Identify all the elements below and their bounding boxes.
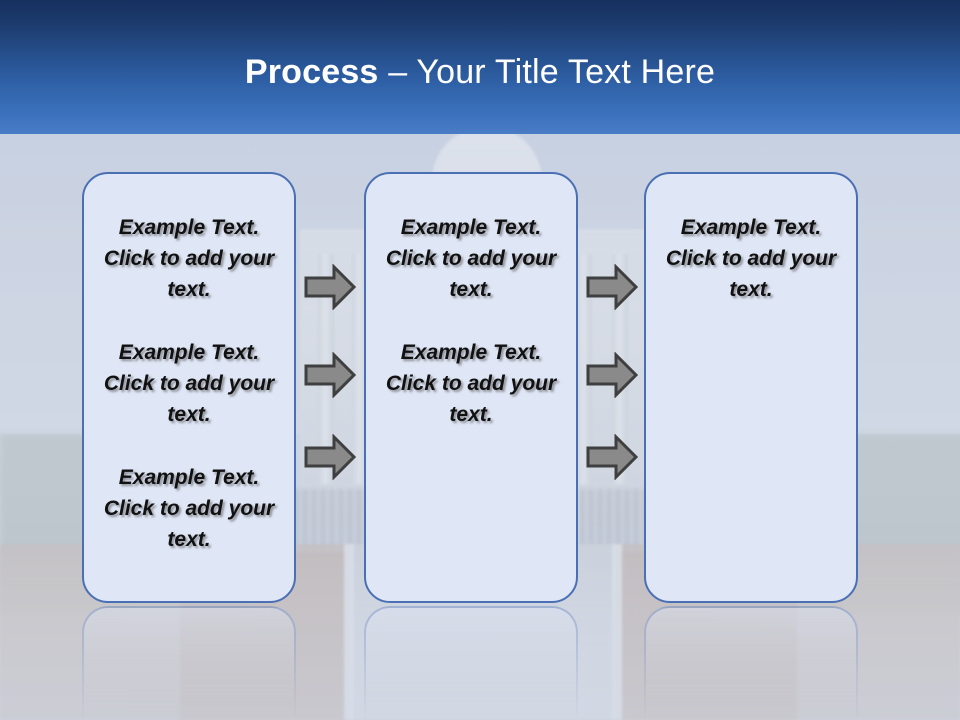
box-reflection-2 bbox=[364, 606, 578, 720]
process-text-block[interactable]: Example Text. Click to add your text. bbox=[380, 337, 562, 430]
slide-canvas: Process – Your Title Text Here Example T… bbox=[0, 0, 960, 720]
process-text-block[interactable]: Example Text. Click to add your text. bbox=[660, 212, 842, 305]
right-arrow-icon[interactable] bbox=[586, 264, 638, 310]
page-title: Process – Your Title Text Here bbox=[0, 52, 960, 92]
right-arrow-icon[interactable] bbox=[304, 264, 356, 310]
process-text-block[interactable]: Example Text. Click to add your text. bbox=[98, 462, 280, 555]
process-box-3[interactable]: Example Text. Click to add your text. bbox=[644, 172, 858, 603]
right-arrow-icon[interactable] bbox=[586, 352, 638, 398]
right-arrow-icon[interactable] bbox=[304, 434, 356, 480]
page-title-bold: Process bbox=[245, 53, 379, 91]
right-arrow-icon[interactable] bbox=[304, 352, 356, 398]
title-banner: Process – Your Title Text Here bbox=[0, 0, 960, 134]
right-arrow-icon[interactable] bbox=[586, 434, 638, 480]
box-reflection-3 bbox=[644, 606, 858, 720]
process-text-block[interactable]: Example Text. Click to add your text. bbox=[380, 212, 562, 305]
page-title-rest: – Your Title Text Here bbox=[379, 53, 716, 91]
process-box-2[interactable]: Example Text. Click to add your text. Ex… bbox=[364, 172, 578, 603]
process-text-block[interactable]: Example Text. Click to add your text. bbox=[98, 212, 280, 305]
box-reflection-1 bbox=[82, 606, 296, 720]
process-text-block[interactable]: Example Text. Click to add your text. bbox=[98, 337, 280, 430]
process-box-1[interactable]: Example Text. Click to add your text. Ex… bbox=[82, 172, 296, 603]
